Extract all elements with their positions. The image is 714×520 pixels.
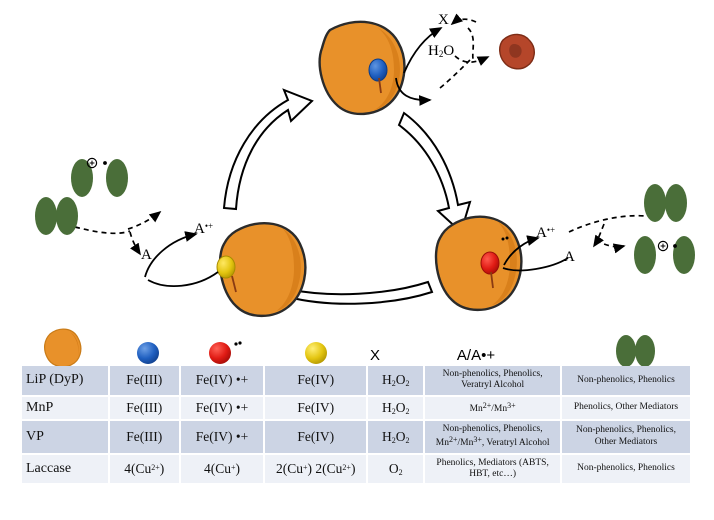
enzyme-top (320, 22, 405, 114)
dashed-arrow-right-split (596, 240, 624, 247)
cell-substrates: Non-phenolics, Phenolics (561, 454, 691, 485)
label-h2o: H2O (428, 44, 454, 59)
dashed-arrow-left-up (128, 212, 160, 229)
cell-enzyme: MnP (22, 396, 109, 420)
legend-blue-sphere-icon (137, 342, 159, 364)
table-row: Laccase 4(Cu2+) 4(Cu+) 2(Cu+) 2(Cu2+) O2… (22, 454, 691, 485)
table-row: MnP Fe(III) Fe(IV) •+ Fe(IV) H2O2 Mn2+/M… (22, 396, 691, 420)
cycle-arrow-left-to-top (224, 90, 312, 209)
legend-label-a-radical: A/A•+ (403, 347, 549, 364)
cell-mediators: Mn2+/Mn3+ (424, 396, 561, 420)
legend-yellow-sphere-icon (305, 342, 327, 364)
cell-resting: 4(Cu2+) (109, 454, 180, 485)
figure-root: X H2O A•+ A A•+ A (0, 0, 714, 520)
lignin-dimer-split-left (71, 159, 128, 197)
active-site-blue (369, 59, 387, 81)
cell-compound1: Fe(IV) •+ (180, 396, 265, 420)
cell-oxidant: O2 (367, 454, 424, 485)
active-site-red (481, 252, 499, 274)
cell-resting: Fe(III) (109, 366, 180, 396)
cell-compound2: 2(Cu+) 2(Cu2+) (264, 454, 367, 485)
dashed-arrow-to-x (452, 19, 476, 24)
cell-mediators: Non-phenolics, Phenolics, Mn2+/Mn3+, Ver… (424, 420, 561, 454)
cell-resting: Fe(III) (109, 396, 180, 420)
table-row: VP Fe(III) Fe(IV) •+ Fe(IV) H2O2 Non-phe… (22, 420, 691, 454)
cell-substrates: Non-phenolics, Phenolics (561, 366, 691, 396)
legend-label-x: X (349, 347, 401, 364)
enzyme-comparison-table: LiP (DyP) Fe(III) Fe(IV) •+ Fe(IV) H2O2 … (22, 366, 692, 485)
table-row: LiP (DyP) Fe(III) Fe(IV) •+ Fe(IV) H2O2 … (22, 366, 691, 396)
label-a-left: A (141, 248, 152, 263)
enzyme-right (436, 217, 521, 310)
legend-lignin-dimer-icon (616, 335, 655, 366)
cell-oxidant: H2O2 (367, 366, 424, 396)
arrow-left-a-to-radical (145, 234, 196, 277)
lignin-dimer-intact-right (644, 184, 687, 222)
cycle-arrow-top-to-right (399, 113, 470, 232)
brown-substrate-blob (500, 34, 535, 68)
label-a-right: A (564, 250, 575, 265)
legend-red-sphere-icon (209, 342, 231, 364)
cell-compound2: Fe(IV) (264, 366, 367, 396)
legend-enzyme-blob-icon (45, 329, 81, 366)
cell-enzyme: LiP (DyP) (22, 366, 109, 396)
radical-dot-left (103, 161, 107, 165)
cell-compound1: 4(Cu+) (180, 454, 265, 485)
cell-enzyme: Laccase (22, 454, 109, 485)
label-a-radical-left: A•+ (194, 222, 213, 237)
cell-substrates: Non-phenolics, Phenolics, Other Mediator… (561, 420, 691, 454)
dashed-arrow-to-product (455, 56, 488, 62)
legend-strip: X A/A•+ (0, 322, 714, 366)
lignin-dimer-intact-left (35, 197, 78, 235)
cell-mediators: Phenolics, Mediators (ABTS, HBT, etc…) (424, 454, 561, 485)
active-site-yellow (217, 256, 235, 278)
cell-compound1: Fe(IV) •+ (180, 366, 265, 396)
cell-compound2: Fe(IV) (264, 396, 367, 420)
enzyme-left (217, 223, 305, 316)
cell-oxidant: H2O2 (367, 420, 424, 454)
cell-compound1: Fe(IV) •+ (180, 420, 265, 454)
label-x-top: X (438, 13, 449, 28)
cell-mediators: Non-phenolics, Phenolics, Veratryl Alcoh… (424, 366, 561, 396)
cell-enzyme: VP (22, 420, 109, 454)
dashed-arrow-left-down (130, 232, 140, 254)
cell-substrates: Phenolics, Other Mediators (561, 396, 691, 420)
label-a-radical-right: A•+ (536, 226, 555, 241)
cell-compound2: Fe(IV) (264, 420, 367, 454)
radical-dot-right (673, 244, 677, 248)
cell-resting: Fe(III) (109, 420, 180, 454)
catalytic-cycle-diagram: X H2O A•+ A A•+ A (0, 0, 714, 322)
diagram-svg (0, 0, 714, 322)
cell-oxidant: H2O2 (367, 396, 424, 420)
dashed-arrow-right-down (594, 224, 604, 246)
